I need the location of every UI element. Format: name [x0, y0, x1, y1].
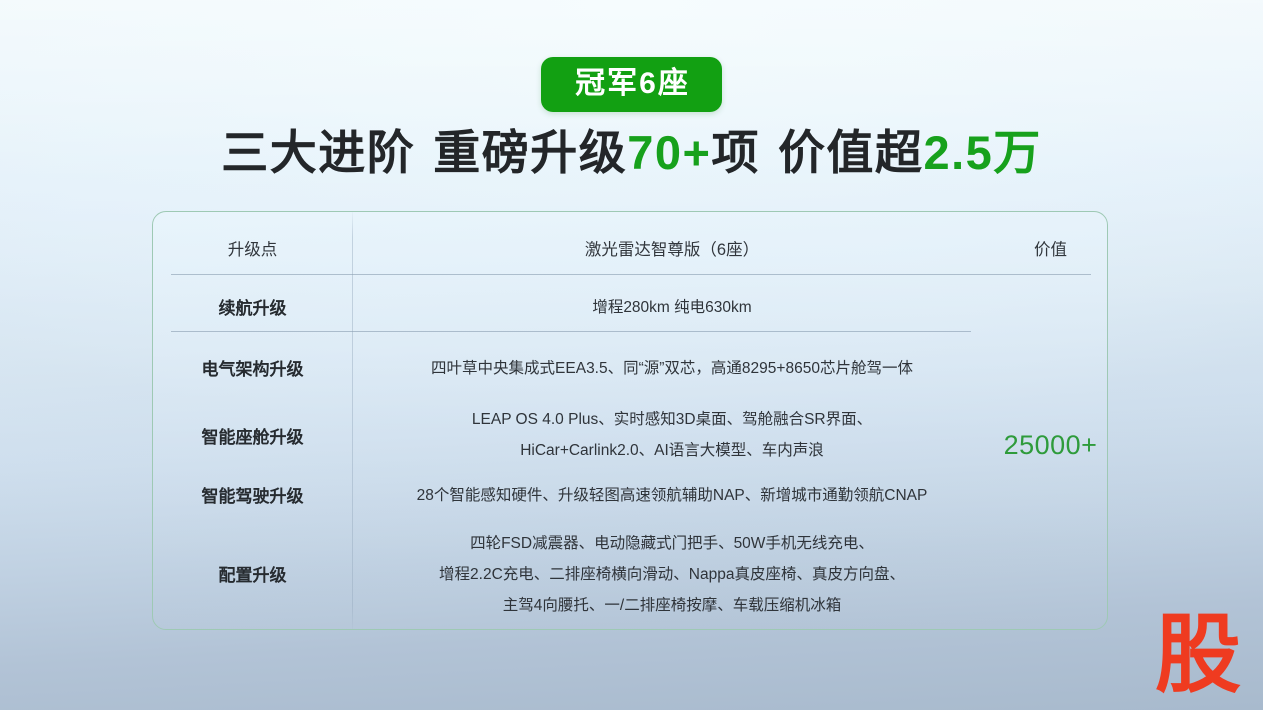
- champion-badge: 冠军6座: [541, 57, 722, 112]
- detail-line: 增程2.2C充电、二排座椅横向滑动、Nappa真皮座椅、真皮方向盘、: [352, 559, 992, 590]
- table-cell-detail: 28个智能感知硬件、升级轻图高速领航辅助NAP、新增城市通勤领航CNAP: [352, 481, 992, 511]
- table-cell-detail: 增程280km 纯电630km: [352, 293, 992, 323]
- headline-highlight-count: 70+: [627, 126, 711, 179]
- headline-part-3: 项: [711, 126, 760, 179]
- page-title: 三大进阶重磅升级70+项价值超2.5万: [0, 124, 1263, 183]
- badge-container: 冠军6座: [0, 57, 1263, 112]
- table-cell-detail: 四轮FSD减震器、电动隐藏式门把手、50W手机无线充电、 增程2.2C充电、二排…: [352, 528, 992, 621]
- detail-line: 四轮FSD减震器、电动隐藏式门把手、50W手机无线充电、: [352, 528, 992, 559]
- table-header-upgrade-point: 升级点: [153, 234, 352, 266]
- headline-highlight-value: 2.5万: [923, 126, 1041, 179]
- headline-part-1: 三大进阶: [221, 126, 415, 179]
- table-row: 智能驾驶升级: [153, 480, 352, 513]
- upgrade-table: 升级点 激光雷达智尊版（6座） 价值 续航升级 增程280km 纯电630km …: [153, 212, 1107, 629]
- table-cell-detail: LEAP OS 4.0 Plus、实时感知3D桌面、驾舱融合SR界面、 HiCa…: [352, 404, 992, 466]
- headline-part-2: 重磅升级: [433, 126, 627, 179]
- slide-root: 冠军6座 三大进阶重磅升级70+项价值超2.5万 升级点 激光雷达智尊版（6座）…: [0, 0, 1263, 710]
- table-row: 续航升级: [153, 292, 352, 325]
- table-cell-detail: 四叶草中央集成式EEA3.5、同“源”双芯，高通8295+8650芯片舱驾一体: [352, 354, 992, 384]
- watermark-logo: 股: [1155, 612, 1241, 698]
- table-header-trim: 激光雷达智尊版（6座）: [352, 234, 992, 266]
- detail-line: LEAP OS 4.0 Plus、实时感知3D桌面、驾舱融合SR界面、: [352, 404, 992, 435]
- headline-part-4: 价值超: [778, 126, 924, 179]
- table-row: 配置升级: [153, 559, 352, 592]
- table-row: 智能座舱升级: [153, 421, 352, 454]
- detail-line: HiCar+Carlink2.0、AI语言大模型、车内声浪: [352, 435, 992, 466]
- detail-line: 主驾4向腰托、一/二排座椅按摩、车载压缩机冰箱: [352, 590, 992, 621]
- table-row: 电气架构升级: [153, 353, 352, 386]
- table-cell-total-value: 25000+: [992, 419, 1108, 472]
- upgrade-table-card: 升级点 激光雷达智尊版（6座） 价值 续航升级 增程280km 纯电630km …: [152, 211, 1108, 630]
- table-header-value: 价值: [992, 234, 1108, 266]
